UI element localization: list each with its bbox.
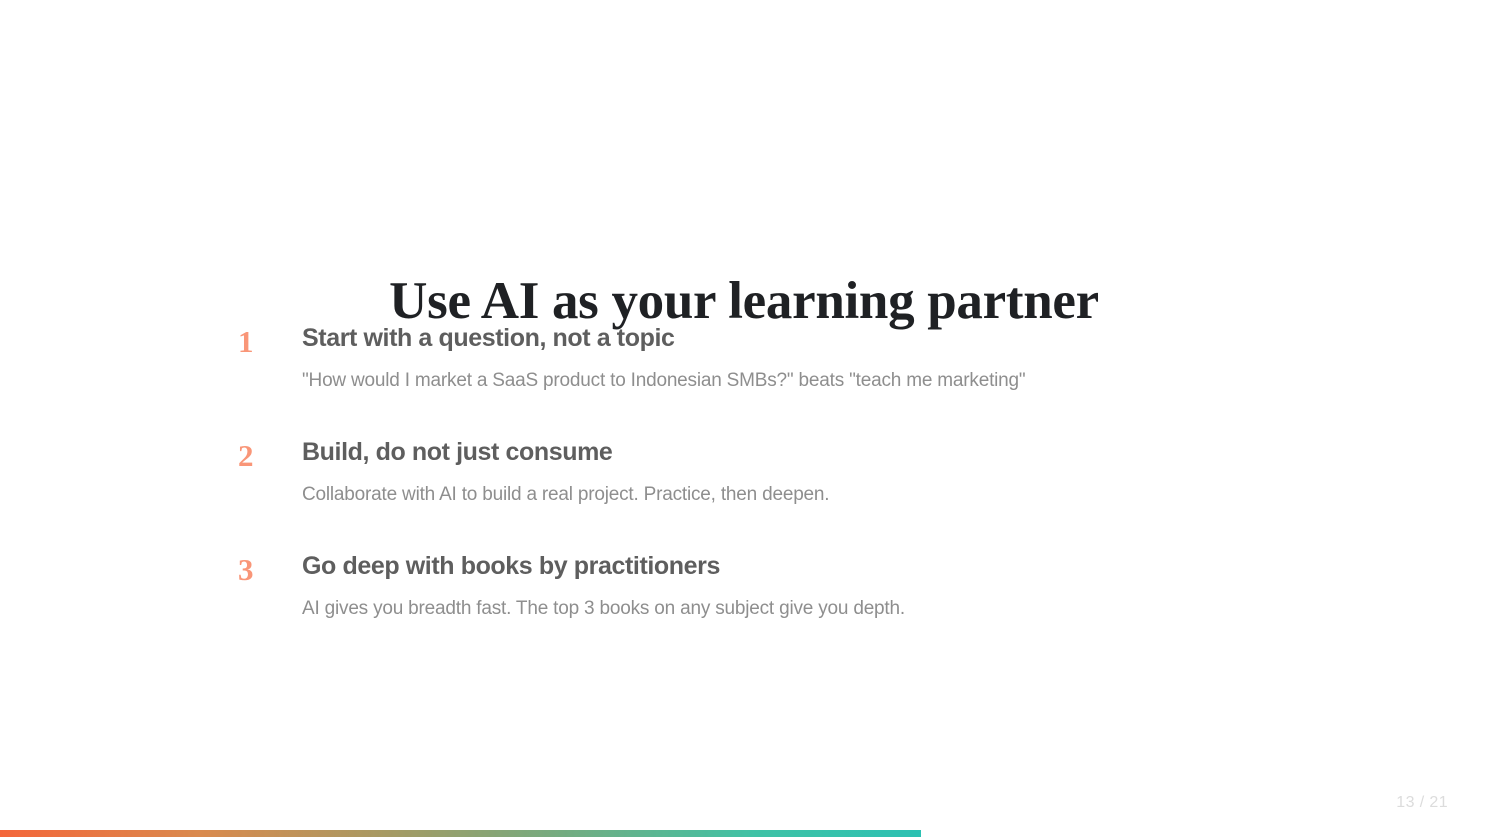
point-number-badge: 1 xyxy=(238,322,302,360)
slide-progress-track xyxy=(0,830,1488,837)
list-item: 2 Build, do not just consume Collaborate… xyxy=(238,436,1248,508)
point-content: Start with a question, not a topic "How … xyxy=(302,322,1248,394)
list-item: 3 Go deep with books by practitioners AI… xyxy=(238,550,1248,622)
slide-progress-fill xyxy=(0,830,921,837)
point-number-badge: 2 xyxy=(238,436,302,474)
point-content: Go deep with books by practitioners AI g… xyxy=(302,550,1248,622)
point-number-badge: 3 xyxy=(238,550,302,588)
point-description: Collaborate with AI to build a real proj… xyxy=(302,482,1248,508)
numbered-points-list: 1 Start with a question, not a topic "Ho… xyxy=(238,322,1248,622)
page-indicator: 13 / 21 xyxy=(1396,793,1448,813)
point-description: AI gives you breadth fast. The top 3 boo… xyxy=(302,596,1248,622)
point-heading: Start with a question, not a topic xyxy=(302,322,1248,354)
list-item: 1 Start with a question, not a topic "Ho… xyxy=(238,322,1248,394)
slide-canvas: Use AI as your learning partner 1 Start … xyxy=(0,0,1488,837)
point-heading: Build, do not just consume xyxy=(302,436,1248,468)
point-description: "How would I market a SaaS product to In… xyxy=(302,368,1248,394)
point-content: Build, do not just consume Collaborate w… xyxy=(302,436,1248,508)
point-heading: Go deep with books by practitioners xyxy=(302,550,1248,582)
